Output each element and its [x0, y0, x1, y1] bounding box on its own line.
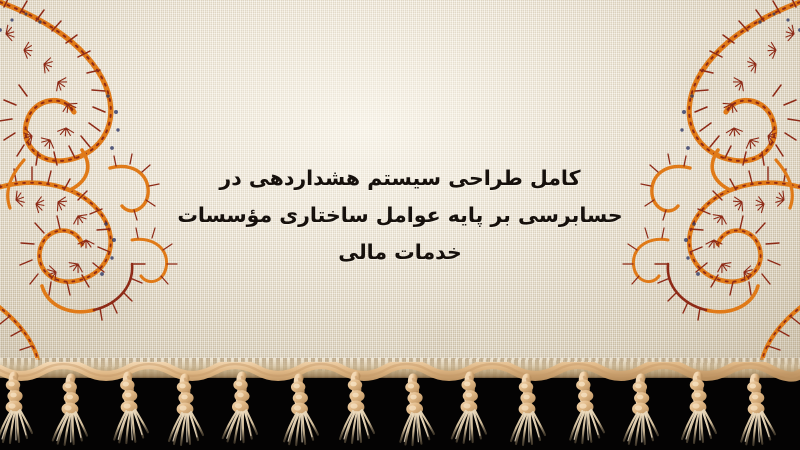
title-line-2: حسابرسی بر پایه عوامل ساختاری مؤسسات	[165, 197, 635, 234]
cloth-hem-edge	[0, 358, 800, 378]
slide-canvas: کامل طراحی سیستم هشداردهی در حسابرسی بر …	[0, 0, 800, 450]
title-line-1: کامل طراحی سیستم هشداردهی در	[165, 160, 635, 197]
slide-title: کامل طراحی سیستم هشداردهی در حسابرسی بر …	[165, 160, 635, 271]
title-line-3: خدمات مالی	[165, 234, 635, 271]
embroidered-cloth: کامل طراحی سیستم هشداردهی در حسابرسی بر …	[0, 0, 800, 378]
